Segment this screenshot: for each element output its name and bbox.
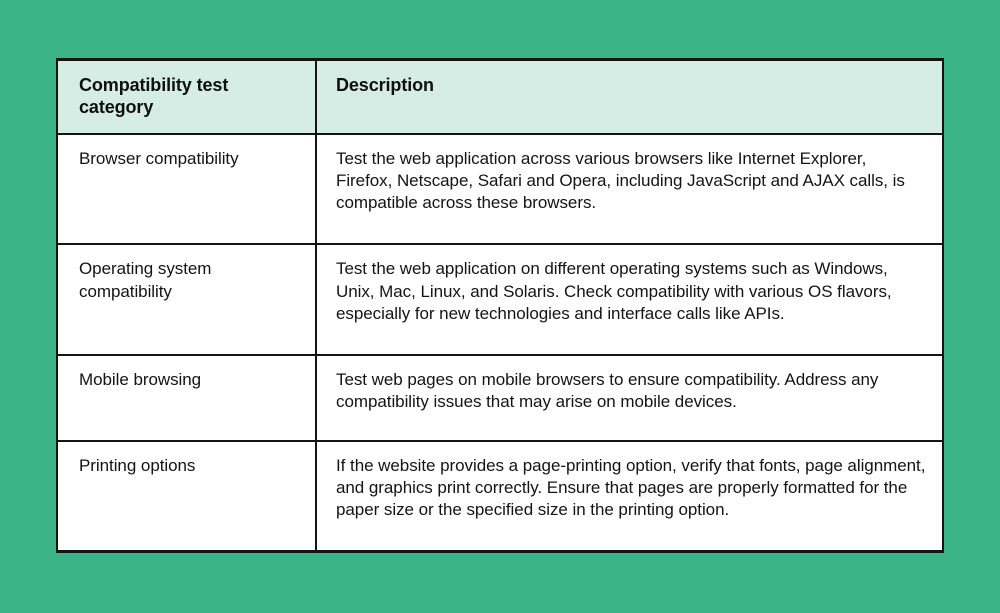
table-row: Operating system compatibility Test the … [58, 244, 942, 355]
table-cell-description: If the website provides a page-printing … [316, 441, 942, 550]
table-cell-category: Mobile browsing [58, 355, 316, 440]
compatibility-test-table: Compatibility test category Description … [58, 61, 942, 550]
table-cell-category: Operating system compatibility [58, 244, 316, 355]
table-row: Mobile browsing Test web pages on mobile… [58, 355, 942, 440]
category-label: Operating system compatibility [79, 258, 305, 302]
table-cell-category: Printing options [58, 441, 316, 550]
table-cell-description: Test the web application on different op… [316, 244, 942, 355]
table-cell-category: Browser compatibility [58, 134, 316, 245]
compatibility-test-table-container: Compatibility test category Description … [56, 58, 944, 553]
description-text: If the website provides a page-printing … [336, 455, 926, 521]
table-row: Browser compatibility Test the web appli… [58, 134, 942, 245]
column-header-category: Compatibility test category [58, 61, 316, 134]
category-label: Browser compatibility [79, 148, 305, 170]
page-canvas: Compatibility test category Description … [0, 0, 1000, 613]
column-header-description: Description [316, 61, 942, 134]
description-text: Test web pages on mobile browsers to ens… [336, 369, 926, 413]
table-header: Compatibility test category Description [58, 61, 942, 134]
table-body: Browser compatibility Test the web appli… [58, 134, 942, 550]
description-text: Test the web application across various … [336, 148, 926, 214]
table-cell-description: Test the web application across various … [316, 134, 942, 245]
table-header-row: Compatibility test category Description [58, 61, 942, 134]
table-cell-description: Test web pages on mobile browsers to ens… [316, 355, 942, 440]
category-label: Printing options [79, 455, 305, 477]
table-row: Printing options If the website provides… [58, 441, 942, 550]
description-text: Test the web application on different op… [336, 258, 926, 324]
category-label: Mobile browsing [79, 369, 305, 391]
